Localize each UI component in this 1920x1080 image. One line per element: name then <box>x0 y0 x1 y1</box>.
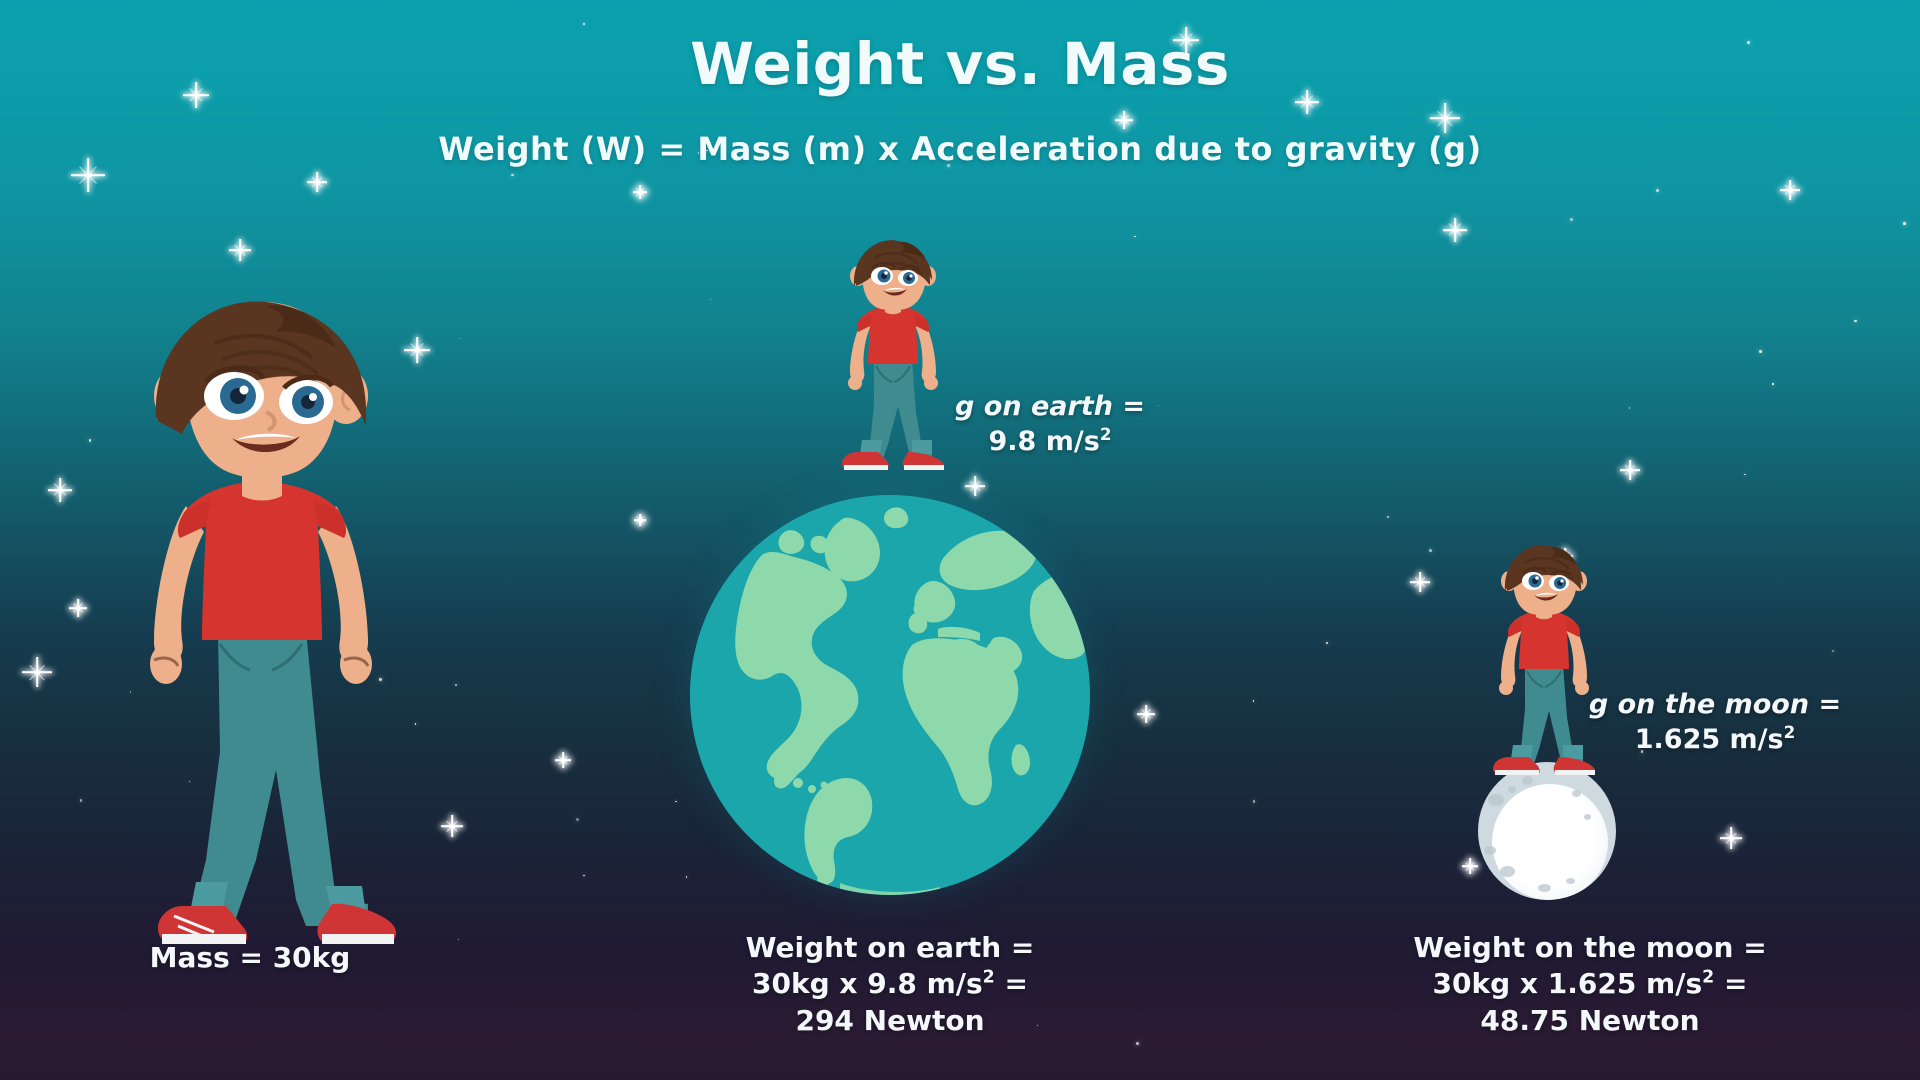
g-earth-line1: g on earth = <box>930 390 1170 424</box>
caption-moon-line2: 30kg x 1.625 m/s2 = <box>1370 966 1810 1002</box>
caption-earth-line2-suffix: = <box>995 967 1028 1000</box>
star-sparkle <box>229 239 251 261</box>
star-diagonal-rays <box>69 599 87 617</box>
star-dot <box>1134 236 1135 237</box>
caption-moon-line2-prefix: 30kg x 1.625 m/s <box>1433 967 1703 1000</box>
star-dot <box>415 723 416 724</box>
star-core <box>415 348 420 353</box>
star-core <box>1453 228 1458 233</box>
star-dot <box>455 684 457 686</box>
star-dot <box>583 875 584 876</box>
page-title: Weight vs. Mass <box>0 30 1920 98</box>
caption-earth-line3: 294 Newton <box>690 1003 1090 1039</box>
star-sparkle <box>633 185 647 199</box>
g-label-earth: g on earth = 9.8 m/s2 <box>930 390 1170 459</box>
star-sparkle <box>1430 103 1460 133</box>
g-label-moon: g on the moon = 1.625 m/s2 <box>1580 688 1850 757</box>
g-moon-value: 1.625 m/s <box>1635 724 1784 755</box>
star-core <box>638 190 643 195</box>
g-earth-exponent: 2 <box>1100 424 1112 444</box>
star-core <box>973 484 978 489</box>
caption-earth-line2-exponent: 2 <box>983 968 995 988</box>
moon-crater <box>1584 814 1591 820</box>
caption-earth-line1: Weight on earth = <box>690 930 1090 966</box>
star-core <box>58 488 63 493</box>
moon-crater <box>1484 846 1496 855</box>
star-diagonal-rays <box>555 752 571 768</box>
star-diagonal-rays <box>1462 858 1478 874</box>
star-dot <box>89 439 92 442</box>
star-dot <box>459 338 461 340</box>
star-dot <box>511 174 513 176</box>
moon-sphere <box>1478 762 1616 900</box>
caption-moon-line2-suffix: = <box>1714 967 1747 1000</box>
star-core <box>1628 468 1633 473</box>
star-diagonal-rays <box>633 185 647 199</box>
star-dot <box>458 939 459 940</box>
star-diagonal-rays <box>307 172 327 192</box>
star-dot <box>710 299 711 300</box>
star-diagonal-rays <box>634 514 646 526</box>
star-core <box>638 518 643 523</box>
star-dot <box>576 818 579 821</box>
star-dot <box>1772 383 1773 384</box>
star-dot <box>1903 222 1906 225</box>
g-moon-line2: 1.625 m/s2 <box>1580 722 1850 757</box>
star-sparkle <box>307 172 327 192</box>
star-core <box>1305 100 1310 105</box>
star-diagonal-rays <box>22 657 52 687</box>
star-dot <box>1759 350 1762 353</box>
star-diagonal-rays <box>1115 111 1133 129</box>
star-diagonal-rays <box>229 239 251 261</box>
star-diagonal-rays <box>965 476 985 496</box>
star-dot <box>686 876 687 877</box>
star-dot <box>675 801 677 803</box>
star-diagonal-rays <box>1137 705 1155 723</box>
caption-moon-line3: 48.75 Newton <box>1370 1003 1810 1039</box>
star-sparkle <box>1443 218 1467 242</box>
star-core <box>86 173 91 178</box>
g-earth-line2: 9.8 m/s2 <box>930 424 1170 459</box>
moon-crater <box>1566 878 1575 884</box>
star-sparkle <box>22 657 52 687</box>
star-diagonal-rays <box>48 478 72 502</box>
moon-crater <box>1538 884 1551 892</box>
caption-mass: Mass = 30kg <box>60 940 440 976</box>
star-dot <box>1136 1042 1139 1045</box>
star-sparkle <box>1137 705 1155 723</box>
star-core <box>1418 580 1423 585</box>
star-dot <box>1326 642 1328 644</box>
star-sparkle <box>555 752 571 768</box>
infographic-canvas: Weight vs. Mass Weight (W) = Mass (m) x … <box>0 0 1920 1080</box>
star-dot <box>1656 189 1659 192</box>
moon-crater <box>1508 786 1516 793</box>
star-dot <box>1854 320 1857 323</box>
star-core <box>76 606 81 611</box>
moon-crater <box>1488 794 1504 806</box>
star-diagonal-rays <box>441 815 463 837</box>
caption-moon-line1: Weight on the moon = <box>1370 930 1810 966</box>
star-core <box>561 758 566 763</box>
star-dot <box>1387 516 1389 518</box>
star-sparkle <box>48 478 72 502</box>
star-dot <box>1832 650 1834 652</box>
star-core <box>35 670 40 675</box>
star-dot <box>1429 549 1432 552</box>
star-core <box>315 180 320 185</box>
boy-character-large <box>110 300 410 930</box>
moon-crater <box>1522 776 1533 785</box>
star-sparkle <box>1115 111 1133 129</box>
formula-subtitle: Weight (W) = Mass (m) x Acceleration due… <box>0 130 1920 168</box>
star-core <box>450 824 455 829</box>
star-sparkle <box>1462 858 1478 874</box>
star-sparkle <box>1620 460 1640 480</box>
moon-crater <box>1500 866 1515 877</box>
star-core <box>1729 836 1734 841</box>
star-dot <box>583 23 585 25</box>
star-sparkle <box>441 815 463 837</box>
star-dot <box>80 799 82 801</box>
star-diagonal-rays <box>1430 103 1460 133</box>
star-sparkle <box>1720 827 1742 849</box>
star-diagonal-rays <box>1720 827 1742 849</box>
star-dot <box>1253 800 1256 803</box>
star-diagonal-rays <box>1780 180 1800 200</box>
star-dot <box>1253 700 1254 701</box>
caption-moon-line2-exponent: 2 <box>1702 968 1714 988</box>
star-core <box>1468 864 1473 869</box>
star-dot <box>1570 218 1573 221</box>
star-sparkle <box>634 514 646 526</box>
star-diagonal-rays <box>1443 218 1467 242</box>
moon-highlight <box>1492 784 1608 900</box>
star-core <box>1788 188 1793 193</box>
star-dot <box>1744 474 1746 476</box>
earth-globe <box>690 495 1090 895</box>
g-moon-exponent: 2 <box>1784 722 1796 742</box>
moon-crater <box>1572 790 1581 797</box>
star-sparkle <box>1780 180 1800 200</box>
g-moon-line1: g on the moon = <box>1580 688 1850 722</box>
star-core <box>1122 118 1127 123</box>
caption-moon: Weight on the moon = 30kg x 1.625 m/s2 =… <box>1370 930 1810 1039</box>
caption-earth: Weight on earth = 30kg x 9.8 m/s2 = 294 … <box>690 930 1090 1039</box>
star-dot <box>1629 407 1631 409</box>
star-sparkle <box>69 599 87 617</box>
star-diagonal-rays <box>1410 572 1430 592</box>
star-core <box>1144 712 1149 717</box>
star-sparkle <box>965 476 985 496</box>
star-diagonal-rays <box>1620 460 1640 480</box>
caption-earth-line2-prefix: 30kg x 9.8 m/s <box>752 967 983 1000</box>
star-sparkle <box>1410 572 1430 592</box>
caption-earth-line2: 30kg x 9.8 m/s2 = <box>690 966 1090 1002</box>
g-earth-value: 9.8 m/s <box>989 426 1100 457</box>
star-core <box>1443 116 1448 121</box>
star-core <box>238 248 243 253</box>
